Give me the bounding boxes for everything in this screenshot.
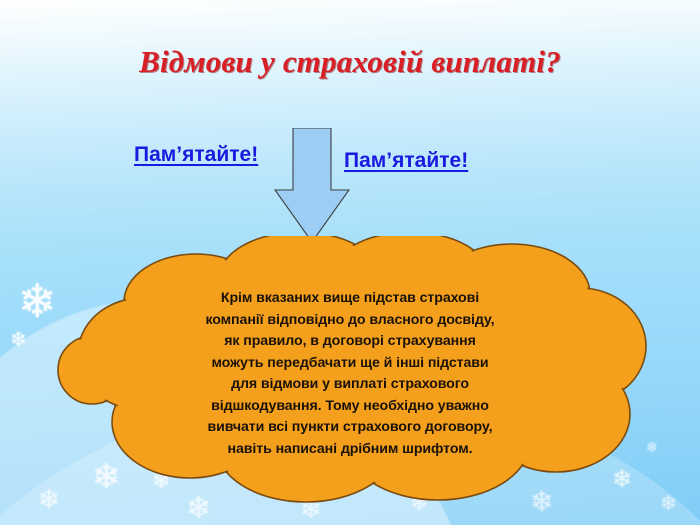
down-arrow-icon bbox=[274, 128, 350, 244]
cloud-body-text: Крім вказаних вище підстав страховікомпа… bbox=[150, 288, 550, 460]
remember-label-right: Пам’ятайте! bbox=[344, 149, 468, 173]
cloud-text-line: компанії відповідно до власного досвіду, bbox=[150, 310, 550, 332]
cloud-text-line: Крім вказаних вище підстав страхові bbox=[150, 288, 550, 310]
cloud-text-line: відшкодування. Тому необхідно уважно bbox=[150, 396, 550, 418]
cloud-text-line: як правило, в договорі страхування bbox=[150, 331, 550, 353]
cloud-text-line: навіть написані дрібним шрифтом. bbox=[150, 439, 550, 461]
slide-canvas: ❄❄❄❄❄❄❄❄❄❄❄❄❄❄❄❄ Відмови у страховій вип… bbox=[0, 0, 700, 525]
cloud-text-line: для відмови у виплаті страхового bbox=[150, 374, 550, 396]
cloud-text-line: можуть передбачати ще й інші підстави bbox=[150, 353, 550, 375]
cloud-text-line: вивчати всі пункти страхового договору, bbox=[150, 417, 550, 439]
remember-label-left: Пам’ятайте! bbox=[134, 143, 258, 167]
page-title: Відмови у страховій виплаті? bbox=[0, 44, 700, 80]
